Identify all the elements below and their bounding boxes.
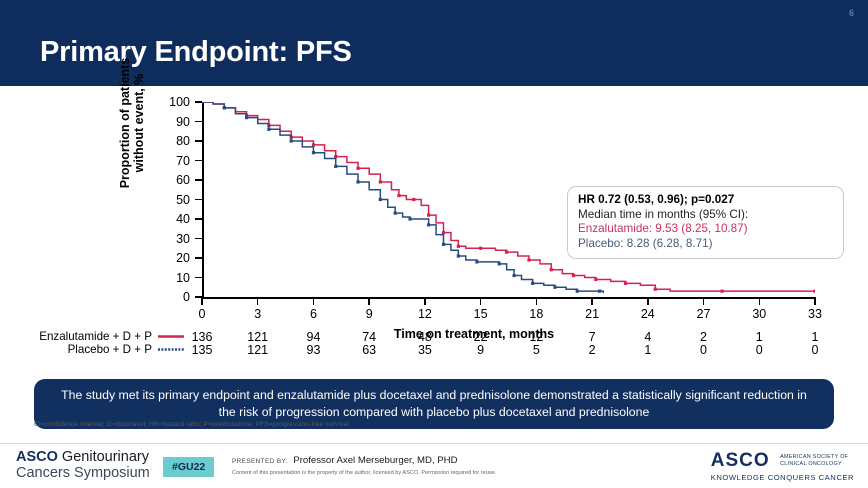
- x-tick-label: 3: [238, 307, 278, 321]
- slide-number: 6: [849, 8, 854, 18]
- solid-line-marker-icon: [158, 333, 184, 342]
- y-tick-label: 90: [154, 116, 190, 128]
- risk-value: 12: [516, 330, 556, 344]
- censor-mark: [505, 251, 508, 254]
- median-header-text: Median time in months (95% CI):: [578, 208, 834, 223]
- conclusion-text: The study met its primary endpoint and e…: [61, 388, 807, 419]
- censor-mark: [202, 102, 204, 104]
- x-tick-label: 33: [795, 307, 835, 321]
- censor-mark: [624, 282, 627, 285]
- censor-mark: [721, 290, 724, 293]
- y-tick-label: 70: [154, 155, 190, 167]
- x-tick: [647, 298, 648, 305]
- censor-mark: [408, 217, 411, 220]
- presented-by-label: PRESENTED BY:: [232, 458, 288, 465]
- y-tick-label: 50: [154, 194, 190, 206]
- x-tick-label: 21: [572, 307, 612, 321]
- x-tick-label: 9: [349, 307, 389, 321]
- x-axis-line: [202, 297, 816, 299]
- y-tick-label: 10: [154, 272, 190, 284]
- risk-value: 35: [405, 343, 445, 357]
- risk-value: 74: [349, 330, 389, 344]
- risk-value: 5: [516, 343, 556, 357]
- risk-value: 4: [628, 330, 668, 344]
- risk-value: 135: [182, 343, 222, 357]
- x-tick: [536, 298, 537, 305]
- risk-value: 94: [293, 330, 333, 344]
- presenter-name: Professor Axel Merseburger, MD, PHD: [293, 455, 457, 466]
- x-tick: [759, 298, 760, 305]
- censor-mark: [427, 214, 430, 217]
- asco-gu-logo: ASCO Genitourinary Cancers Symposium: [16, 450, 150, 481]
- presenter-line: PRESENTED BY: Professor Axel Merseburger…: [232, 455, 458, 466]
- y-tick-label: 100: [154, 96, 190, 108]
- censor-mark: [527, 258, 530, 261]
- risk-value: 48: [405, 330, 445, 344]
- y-axis-title: Proportion of patients without event, %: [118, 38, 146, 208]
- risk-value: 0: [795, 343, 835, 357]
- censor-mark: [457, 254, 460, 257]
- x-tick: [257, 298, 258, 305]
- risk-value: 22: [461, 330, 501, 344]
- risk-value: 1: [628, 343, 668, 357]
- hazard-ratio-text: HR 0.72 (0.53, 0.96); p=0.027: [578, 193, 834, 208]
- x-tick: [591, 298, 592, 305]
- censor-mark: [594, 278, 597, 281]
- asco-sub-line1: AMERICAN SOCIETY OF: [780, 454, 848, 460]
- censor-mark: [412, 198, 415, 201]
- risk-value: 63: [349, 343, 389, 357]
- x-tick: [201, 298, 202, 305]
- censor-mark: [813, 290, 815, 293]
- x-tick-label: 24: [628, 307, 668, 321]
- x-tick: [703, 298, 704, 305]
- y-tick: [195, 257, 202, 258]
- x-tick-label: 18: [516, 307, 556, 321]
- page-title: Primary Endpoint: PFS: [40, 36, 352, 69]
- statistics-box: HR 0.72 (0.53, 0.96); p=0.027 Median tim…: [567, 186, 844, 259]
- y-tick: [195, 238, 202, 239]
- asco-sub-line2: CLINICAL ONCOLOGY: [780, 461, 842, 467]
- risk-value: 2: [572, 343, 612, 357]
- copyright-text: Content of this presentation is the prop…: [232, 470, 496, 476]
- risk-value: 2: [684, 330, 724, 344]
- censor-mark: [498, 262, 501, 265]
- risk-value: 136: [182, 330, 222, 344]
- x-tick-label: 30: [739, 307, 779, 321]
- risk-value: 121: [238, 330, 278, 344]
- numbers-at-risk-table: Enzalutamide + D + P13612194744822127421…: [0, 330, 868, 374]
- censor-mark: [312, 151, 315, 154]
- risk-value: 93: [293, 343, 333, 357]
- x-tick-label: 0: [182, 307, 222, 321]
- censor-mark: [356, 167, 359, 170]
- risk-row-label: Enzalutamide + D + P: [0, 330, 152, 343]
- censor-mark: [290, 139, 293, 142]
- censor-mark: [553, 286, 556, 289]
- enzalutamide-median-text: Enzalutamide: 9.53 (8.25, 10.87): [578, 222, 834, 237]
- censor-mark: [442, 231, 445, 234]
- asco-gu-rest: Genitourinary: [58, 449, 149, 465]
- censor-mark: [512, 274, 515, 277]
- y-axis-title-text: Proportion of patients without event, %: [118, 58, 146, 189]
- x-tick: [814, 298, 815, 305]
- censor-mark: [394, 212, 397, 215]
- asco-tagline: KNOWLEDGE CONQUERS CANCER: [711, 473, 854, 482]
- x-tick: [313, 298, 314, 305]
- risk-value: 9: [461, 343, 501, 357]
- censor-mark: [334, 165, 337, 168]
- censor-mark: [531, 282, 534, 285]
- asco-wordmark: ASCO: [711, 450, 770, 472]
- x-tick-label: 6: [293, 307, 333, 321]
- censor-mark: [576, 290, 579, 293]
- y-tick: [195, 140, 202, 141]
- risk-value: 7: [572, 330, 612, 344]
- risk-value: 0: [739, 343, 779, 357]
- censor-mark: [550, 268, 553, 271]
- x-tick-label: 15: [461, 307, 501, 321]
- y-tick-label: 0: [154, 291, 190, 303]
- hashtag-badge: #GU22: [163, 457, 214, 477]
- y-tick: [195, 101, 202, 102]
- x-tick: [480, 298, 481, 305]
- x-tick-label: 12: [405, 307, 445, 321]
- censor-mark: [223, 106, 226, 109]
- censor-mark: [598, 290, 601, 293]
- dashed-line-marker-icon: [158, 346, 184, 355]
- risk-value: 1: [795, 330, 835, 344]
- slide: 6 Primary Endpoint: PFS Proportion of pa…: [0, 0, 868, 487]
- risk-value: 0: [684, 343, 724, 357]
- x-tick: [424, 298, 425, 305]
- x-tick-label: 27: [684, 307, 724, 321]
- censor-mark: [397, 194, 400, 197]
- censor-mark: [245, 116, 248, 119]
- censor-mark: [572, 274, 575, 277]
- y-tick-label: 60: [154, 174, 190, 186]
- y-tick: [195, 218, 202, 219]
- censor-mark: [427, 223, 430, 226]
- placebo-median-text: Placebo: 8.28 (6.28, 8.71): [578, 237, 834, 252]
- y-tick: [195, 199, 202, 200]
- risk-row-label: Placebo + D + P: [0, 343, 152, 356]
- abbreviations-footnote: CI=confidence interval; D=docetaxel; HR=…: [34, 421, 349, 428]
- y-tick-label: 40: [154, 213, 190, 225]
- censor-mark: [267, 128, 270, 131]
- y-tick: [195, 160, 202, 161]
- censor-mark: [379, 198, 382, 201]
- risk-value: 121: [238, 343, 278, 357]
- asco-gu-bold: ASCO: [16, 449, 58, 465]
- asco-gu-line2: Cancers Symposium: [16, 466, 150, 482]
- y-tick: [195, 121, 202, 122]
- censor-mark: [356, 180, 359, 183]
- y-tick: [195, 277, 202, 278]
- y-tick-label: 80: [154, 135, 190, 147]
- asco-logo: ASCO AMERICAN SOCIETY OF CLINICAL ONCOLO…: [711, 450, 854, 482]
- censor-mark: [475, 260, 478, 263]
- censor-mark: [379, 180, 382, 183]
- censor-mark: [457, 245, 460, 248]
- y-tick-label: 30: [154, 233, 190, 245]
- risk-value: 1: [739, 330, 779, 344]
- y-tick-label: 20: [154, 252, 190, 264]
- censor-mark: [654, 288, 657, 291]
- censor-mark: [312, 143, 315, 146]
- censor-mark: [479, 247, 482, 250]
- x-tick: [368, 298, 369, 305]
- y-tick: [195, 179, 202, 180]
- censor-mark: [334, 155, 337, 158]
- censor-mark: [442, 243, 445, 246]
